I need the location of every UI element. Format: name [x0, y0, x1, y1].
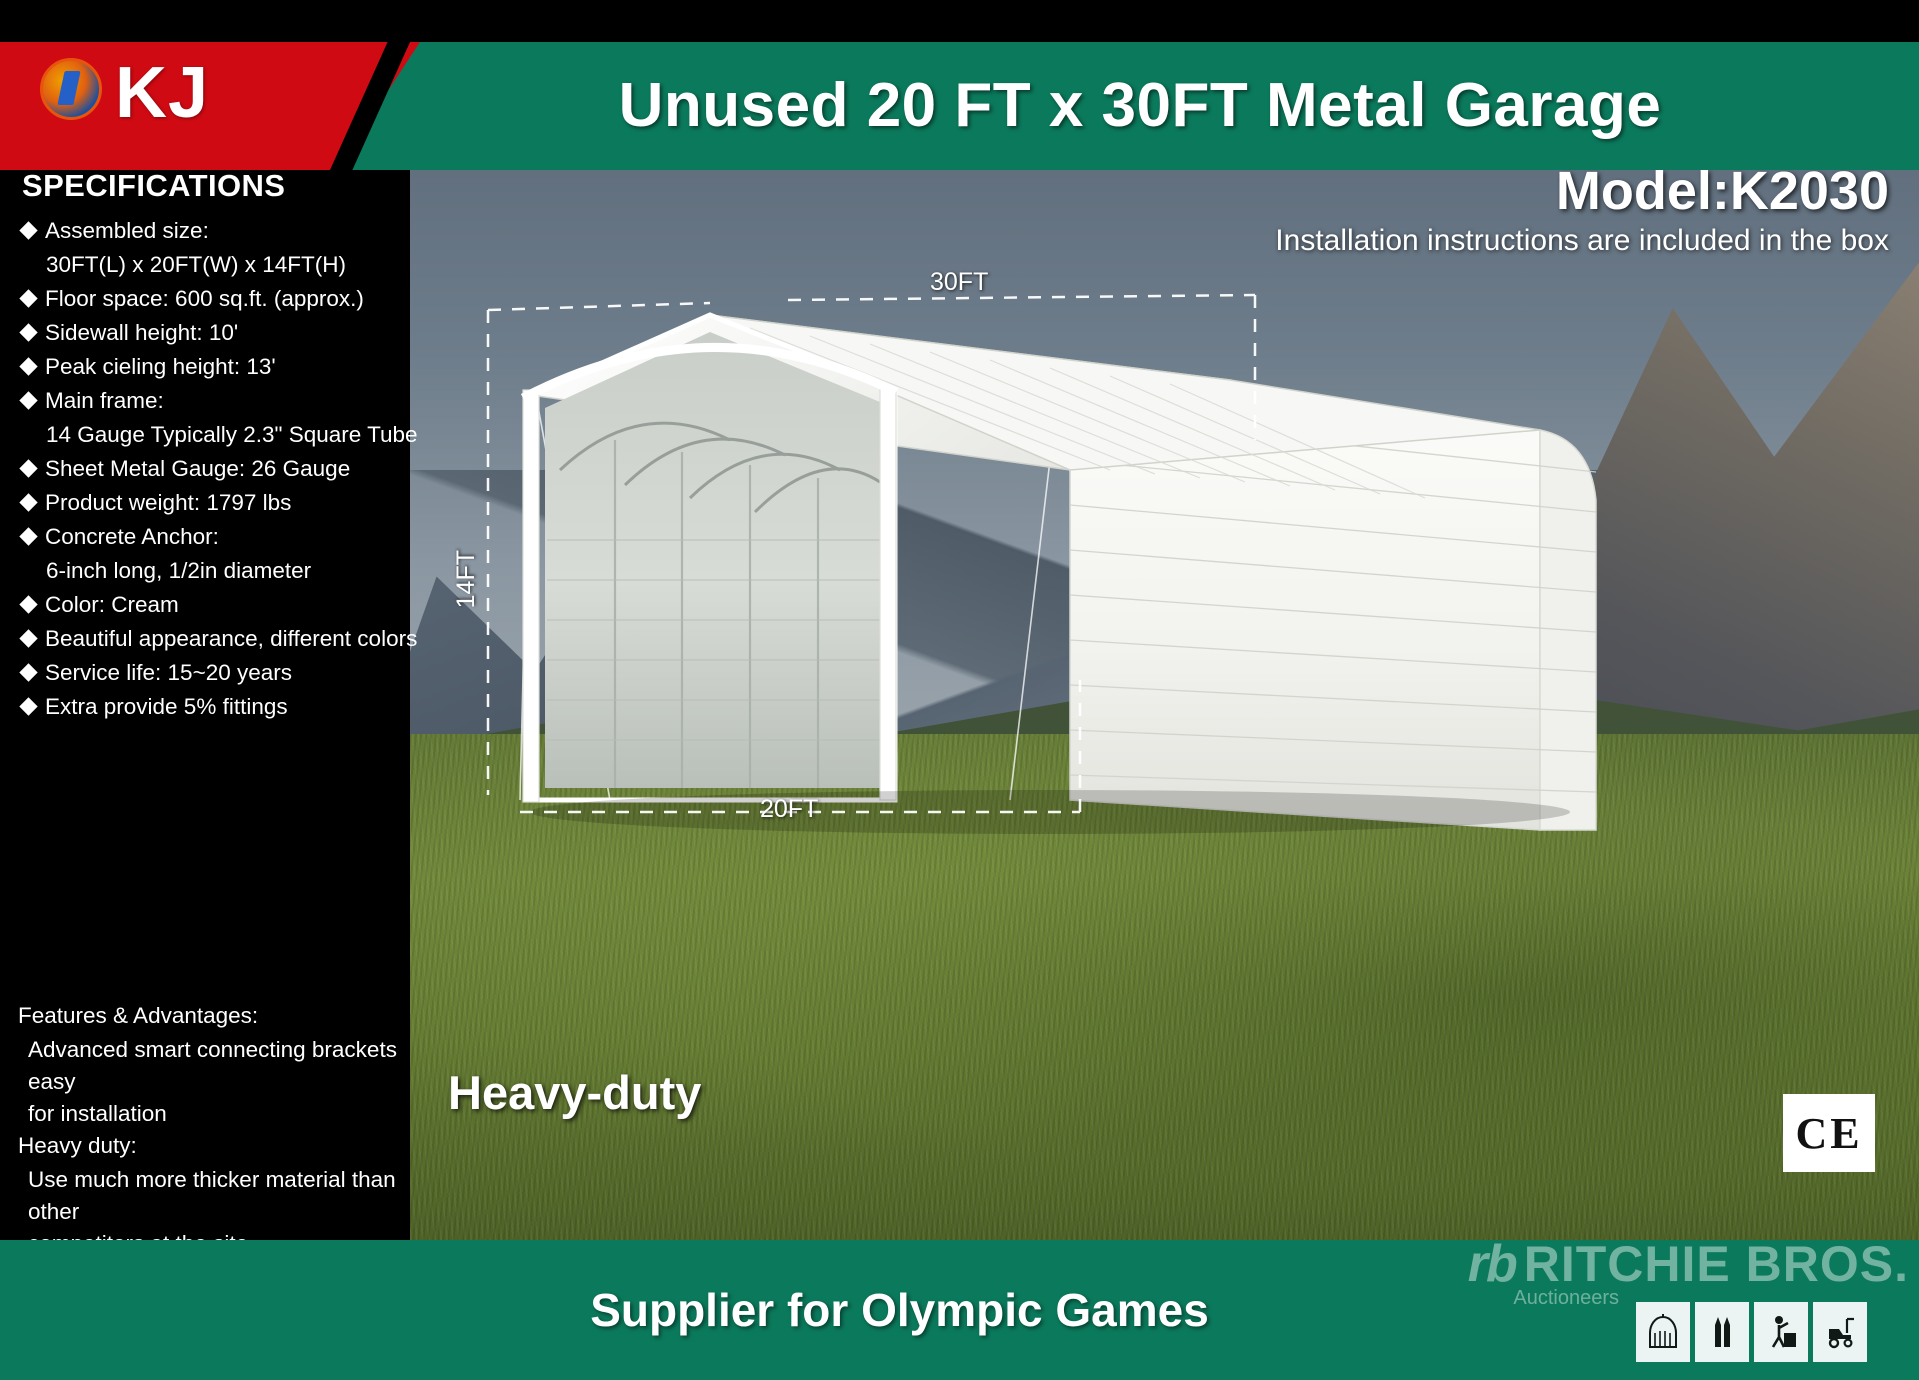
diamond-bullet-icon: [19, 391, 37, 409]
specification-item: Product weight: 1797 lbs: [22, 486, 396, 519]
diamond-bullet-icon: [19, 357, 37, 375]
page-title: Unused 20 FT x 30FT Metal Garage: [430, 50, 1850, 160]
specification-label: Main frame:: [45, 384, 164, 417]
specification-label: Assembled size:: [45, 214, 209, 247]
specifications-heading: SPECIFICATIONS: [22, 168, 396, 204]
specification-label: Peak cieling height: 13': [45, 350, 276, 383]
diamond-bullet-icon: [19, 629, 37, 647]
specification-item: Beautiful appearance, different colors: [22, 622, 396, 655]
specification-label: Product weight: 1797 lbs: [45, 486, 291, 519]
diamond-bullet-icon: [19, 459, 37, 477]
specification-label: Sidewall height: 10': [45, 316, 238, 349]
specification-label: Concrete Anchor:: [45, 520, 219, 553]
model-block: Model:K2030 Installation instructions ar…: [1275, 160, 1889, 258]
towers-icon: [1695, 1302, 1749, 1362]
specification-label: Service life: 15~20 years: [45, 656, 292, 689]
specification-sublabel: 30FT(L) x 20FT(W) x 14FT(H): [22, 248, 396, 281]
diamond-bullet-icon: [19, 289, 37, 307]
footer-tagline: Supplier for Olympic Games: [0, 1240, 1919, 1380]
worker-icon: [1754, 1302, 1808, 1362]
heavy-duty-line: Use much more thicker material than othe…: [18, 1164, 410, 1228]
dome-building-icon: [1636, 1302, 1690, 1362]
product-photo: 30FT 20FT 14FT Heavy-duty CE: [410, 140, 1919, 1240]
specification-label: Extra provide 5% fittings: [45, 690, 288, 723]
specification-label: Sheet Metal Gauge: 26 Gauge: [45, 452, 350, 485]
dimension-label-width: 20FT: [760, 795, 818, 824]
diamond-bullet-icon: [19, 595, 37, 613]
watermark-icon-row: [1636, 1302, 1867, 1362]
specifications-list: Assembled size:30FT(L) x 20FT(W) x 14FT(…: [22, 214, 396, 723]
specification-item: Main frame:: [22, 384, 396, 417]
model-note: Installation instructions are included i…: [1275, 224, 1889, 258]
specifications-panel: SPECIFICATIONS Assembled size:30FT(L) x …: [0, 140, 410, 1240]
product-poster: 30FT 20FT 14FT Heavy-duty CE Model:K2030…: [0, 0, 1919, 1380]
kj-circle-logo-icon: [40, 58, 102, 120]
specification-sublabel: 6-inch long, 1/2in diameter: [22, 554, 396, 587]
dimension-label-height: 14FT: [452, 550, 481, 608]
brand-name: KJ: [115, 52, 209, 134]
heavy-duty-badge: Heavy-duty: [448, 1065, 701, 1120]
features-line: for installation: [18, 1098, 410, 1130]
ce-mark-icon: CE: [1783, 1094, 1875, 1172]
diamond-bullet-icon: [19, 663, 37, 681]
specification-sublabel: 14 Gauge Typically 2.3" Square Tube: [22, 418, 396, 451]
auctioneers-label: Auctioneers: [1513, 1287, 1619, 1310]
specification-item: Service life: 15~20 years: [22, 656, 396, 689]
diamond-bullet-icon: [19, 527, 37, 545]
specification-item: Concrete Anchor:: [22, 520, 396, 553]
specification-item: Sidewall height: 10': [22, 316, 396, 349]
specification-label: Floor space: 600 sq.ft. (approx.): [45, 282, 364, 315]
specification-item: Peak cieling height: 13': [22, 350, 396, 383]
poster-header: Unused 20 FT x 30FT Metal Garage KJ: [0, 0, 1919, 170]
specification-label: Color: Cream: [45, 588, 179, 621]
specification-item: Assembled size:: [22, 214, 396, 247]
specification-item: Color: Cream: [22, 588, 396, 621]
diamond-bullet-icon: [19, 323, 37, 341]
diamond-bullet-icon: [19, 493, 37, 511]
specification-item: Floor space: 600 sq.ft. (approx.): [22, 282, 396, 315]
poster-footer: Supplier for Olympic Games: [0, 1240, 1919, 1380]
features-line: Advanced smart connecting brackets easy: [18, 1034, 410, 1098]
forklift-icon: [1813, 1302, 1867, 1362]
specification-label: Beautiful appearance, different colors: [45, 622, 417, 655]
diamond-bullet-icon: [19, 221, 37, 239]
features-block: Features & Advantages: Advanced smart co…: [18, 1000, 410, 1260]
specification-item: Sheet Metal Gauge: 26 Gauge: [22, 452, 396, 485]
features-heading: Features & Advantages:: [18, 1000, 410, 1032]
dimension-label-length: 30FT: [930, 268, 988, 297]
diamond-bullet-icon: [19, 697, 37, 715]
specification-item: Extra provide 5% fittings: [22, 690, 396, 723]
heavy-duty-heading: Heavy duty:: [18, 1130, 410, 1162]
